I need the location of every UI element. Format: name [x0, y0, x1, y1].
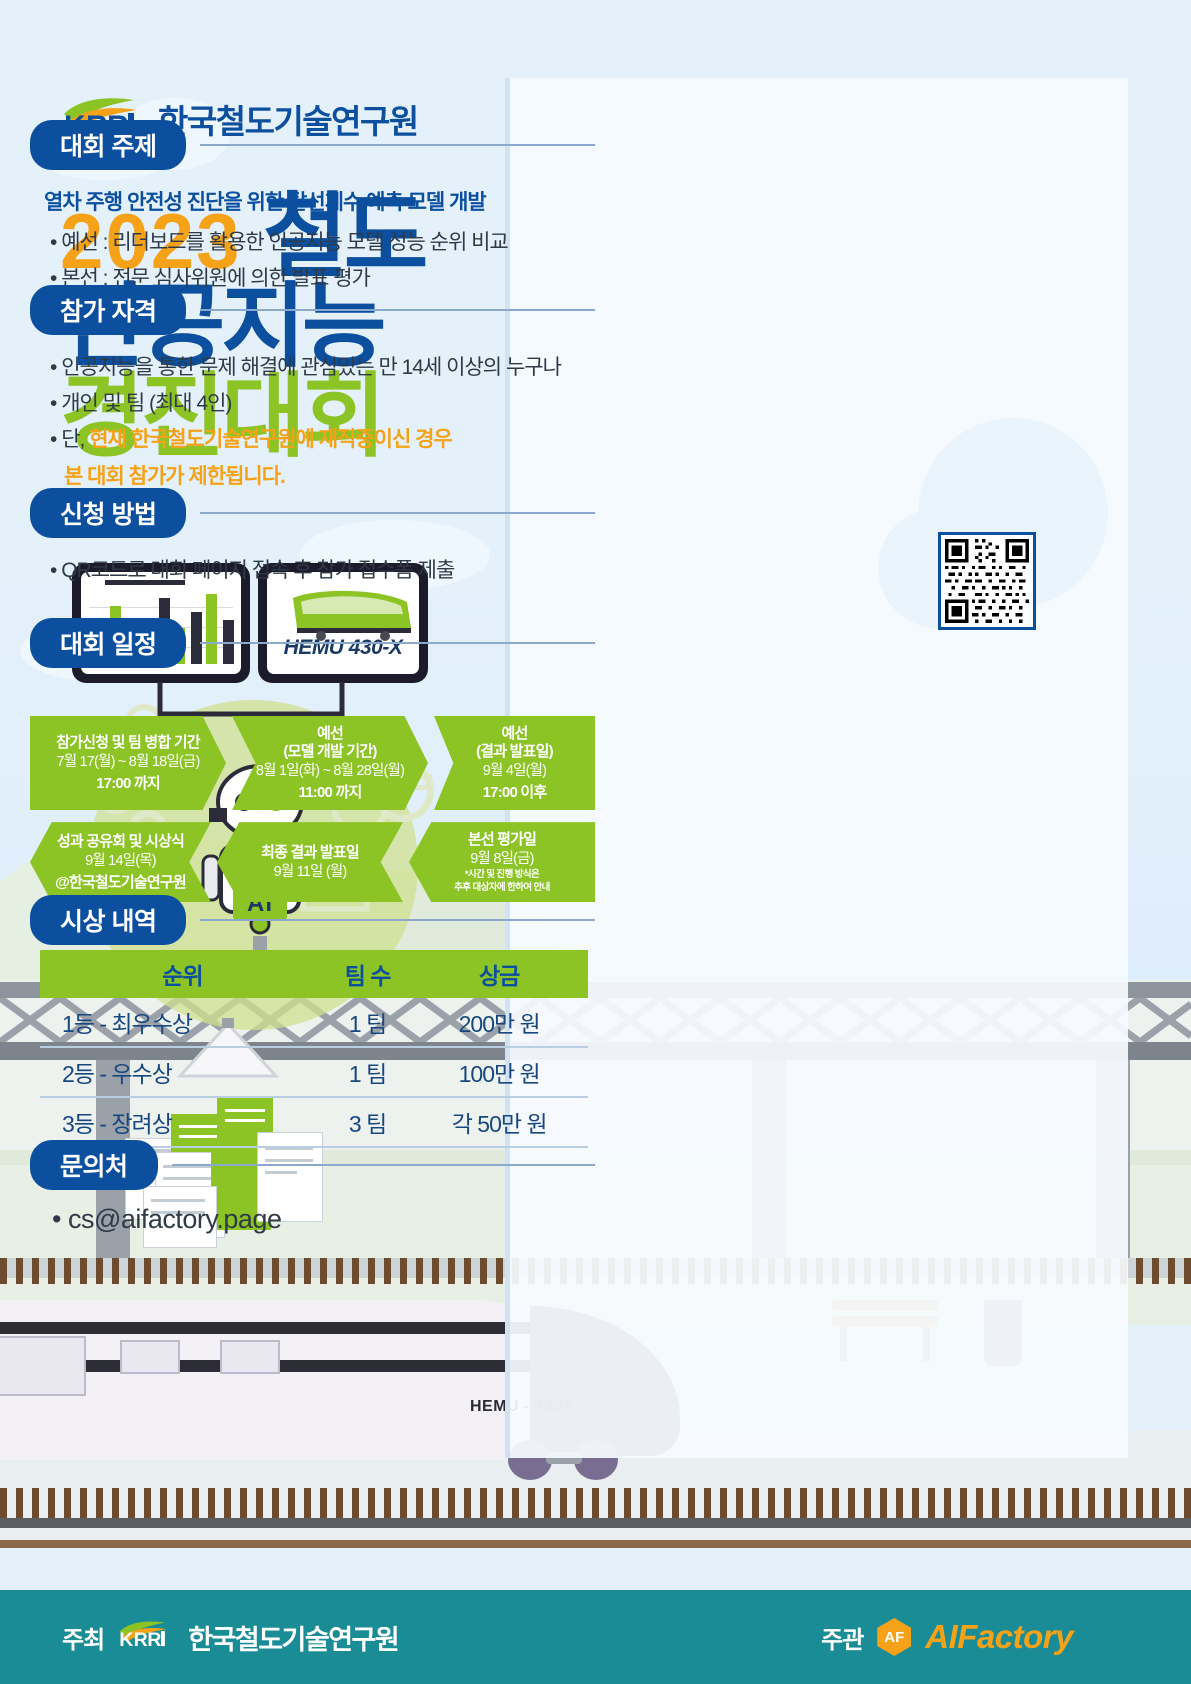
step-title: 참가신청 및 팀 병합 기간 [34, 734, 222, 752]
prize-table-header-row: 순위 팀 수 상금 [40, 950, 588, 998]
step-date: 9월 14일(목) [34, 852, 207, 870]
section-prizes-title: 시상 내역 [30, 895, 186, 945]
section-prizes: 시상 내역 [30, 895, 595, 945]
section-eligibility-title: 참가 자격 [30, 285, 186, 335]
section-prizes-header: 시상 내역 [30, 895, 595, 945]
section-topic: 대회 주제 열차 주행 안전성 진단을 위한 탈선계수 예측 모델 개발 • 예… [30, 120, 595, 300]
step-note-line1: *시간 및 진행 방식은 [413, 870, 591, 881]
step-subtitle: (모델 개발 기간) [236, 743, 424, 761]
header-rule [200, 642, 595, 644]
table-row: 2등 - 우수상 1 팀 100만 원 [40, 1047, 588, 1097]
schedule-step: 예선 (모델 개발 기간) 8월 1일(화) ~ 8월 28일(월) 11:00… [232, 716, 428, 810]
step-title: 본선 평가일 [413, 831, 591, 849]
section-apply-title: 신청 방법 [30, 488, 186, 538]
schedule-step: 본선 평가일 9월 8일(금) *시간 및 진행 방식은 추후 대상자에 한하여… [409, 822, 595, 902]
apply-bullet-text: QR코드로 대회 페이지 접속 후 참가 접수폼 제출 [61, 559, 454, 582]
svg-text:R: R [134, 1629, 148, 1651]
header-rule [200, 309, 595, 311]
step-note-line2: 추후 대상자에 한하여 안내 [413, 883, 591, 894]
eligibility-bullet-text: 인공지능을 통한 문제 해결에 관심있는 만 14세 이상의 누구나 [61, 356, 561, 379]
topic-bullet-text: 예선 : 리더보드를 활용한 인공지능 모델 성능 순위 비교 [61, 231, 508, 254]
step-time: 11:00 까지 [236, 781, 424, 802]
section-topic-header: 대회 주제 [30, 120, 595, 170]
schedule-row-2: 성과 공유회 및 시상식 9월 14일(목) @한국철도기술연구원 최종 결과 … [30, 822, 595, 902]
schedule-step: 성과 공유회 및 시상식 9월 14일(목) @한국철도기술연구원 [30, 822, 211, 902]
schedule-chevrons: 참가신청 및 팀 병합 기간 7월 17(월) ~ 8월 18일(금) 17:0… [30, 716, 595, 902]
poster-footer: 주최 K R R 한국철도기술연구원 주관 AF AIFactory [0, 1590, 1191, 1684]
prize-amount: 100만 원 [410, 1047, 588, 1097]
prize-rank: 2등 - 우수상 [40, 1047, 325, 1097]
train-window [120, 1340, 180, 1374]
step-date: 9월 8일(금) [413, 850, 591, 868]
aifactory-mark-icon: AF [877, 1618, 911, 1656]
header-rule [200, 919, 595, 921]
prize-col-amount: 상금 [410, 950, 588, 998]
footer-krri-mark-icon: K R R [118, 1619, 174, 1656]
step-title: 최종 결과 발표일 [221, 844, 399, 862]
topic-subtitle: 열차 주행 안전성 진단을 위한 탈선계수 예측 모델 개발 [44, 186, 595, 216]
rail-line [0, 1518, 1191, 1528]
qr-code-image [945, 539, 1029, 623]
svg-text:K: K [119, 1629, 133, 1651]
section-apply-header: 신청 방법 [30, 488, 595, 538]
rail-ties [0, 1488, 1191, 1518]
info-panel [505, 78, 1128, 1458]
apply-bullet: • QR코드로 대회 페이지 접속 후 참가 접수폼 제출 [50, 556, 595, 586]
train-stripe [0, 1322, 570, 1334]
prize-table: 순위 팀 수 상금 1등 - 최우수상 1 팀 200만 원 2등 - 우수상 … [40, 950, 588, 1148]
step-date: 9월 4일(월) [438, 762, 591, 780]
host-name: 한국철도기술연구원 [188, 1618, 398, 1657]
step-time: 17:00 이후 [438, 781, 591, 802]
restriction-line2: 본 대회 참가가 제한됩니다. [64, 460, 595, 490]
eligibility-bullet-text: 개인 및 팀 (최대 4인) [61, 392, 231, 415]
schedule-row-1: 참가신청 및 팀 병합 기간 7월 17(월) ~ 8월 18일(금) 17:0… [30, 716, 595, 810]
step-title: 예선 [236, 725, 424, 743]
host-label: 주최 [62, 1620, 104, 1655]
topic-bullet: • 예선 : 리더보드를 활용한 인공지능 모델 성능 순위 비교 [50, 228, 595, 258]
eligibility-bullet: • 인공지능을 통한 문제 해결에 관심있는 만 14세 이상의 누구나 [50, 353, 595, 383]
step-date: 7월 17(월) ~ 8월 18일(금) [34, 753, 222, 771]
prize-teams: 1 팀 [325, 998, 411, 1047]
step-date: 8월 1일(화) ~ 8월 28일(월) [236, 762, 424, 780]
train-window [0, 1336, 86, 1396]
rail-line [0, 1540, 1191, 1548]
header-rule [172, 1164, 595, 1166]
restriction-highlight: 현재 한국철도기술연구원에 재직중이신 경우 [89, 428, 452, 451]
section-contact: 문의처 • cs@aifactory.page [30, 1140, 595, 1235]
restriction-prefix: 단, [61, 428, 89, 451]
poster-canvas: K R R 한국철도기술연구원 2023 철도 인공지능 경진대회 [0, 0, 1191, 1684]
section-topic-title: 대회 주제 [30, 120, 186, 170]
schedule-step: 예선 (결과 발표일) 9월 4일(월) 17:00 이후 [434, 716, 595, 810]
section-eligibility: 참가 자격 • 인공지능을 통한 문제 해결에 관심있는 만 14세 이상의 누… [30, 285, 595, 490]
section-contact-header: 문의처 [30, 1140, 595, 1190]
svg-text:R: R [147, 1629, 161, 1651]
eligibility-bullet-restriction: • 단, 현재 한국철도기술연구원에 재직중이신 경우 [50, 425, 595, 455]
prize-teams: 1 팀 [325, 1047, 411, 1097]
prize-amount: 200만 원 [410, 998, 588, 1047]
section-eligibility-header: 참가 자격 [30, 285, 595, 335]
prize-col-teams: 팀 수 [325, 950, 411, 998]
section-contact-title: 문의처 [30, 1140, 158, 1190]
section-schedule: 대회 일정 [30, 618, 595, 668]
schedule-step: 참가신청 및 팀 병합 기간 7월 17(월) ~ 8월 18일(금) 17:0… [30, 716, 226, 810]
prize-col-rank: 순위 [40, 950, 325, 998]
step-title: 성과 공유회 및 시상식 [34, 833, 207, 851]
section-schedule-title: 대회 일정 [30, 618, 186, 668]
step-date: 9월 11일 (월) [221, 863, 399, 881]
organizer-label: 주관 [821, 1620, 863, 1655]
organizer-name: AIFactory [925, 1618, 1073, 1656]
schedule-step: 최종 결과 발표일 9월 11일 (월) [217, 822, 403, 902]
step-subtitle: (결과 발표일) [438, 743, 591, 761]
step-title: 예선 [438, 725, 591, 743]
header-rule [200, 144, 595, 146]
section-apply: 신청 방법 • QR코드로 대회 페이지 접속 후 참가 접수폼 제출 [30, 488, 595, 592]
table-row: 1등 - 최우수상 1 팀 200만 원 [40, 998, 588, 1047]
step-time: 17:00 까지 [34, 772, 222, 793]
section-schedule-header: 대회 일정 [30, 618, 595, 668]
prize-rank: 1등 - 최우수상 [40, 998, 325, 1047]
contact-email[interactable]: • cs@aifactory.page [52, 1204, 595, 1235]
eligibility-bullet: • 개인 및 팀 (최대 4인) [50, 389, 595, 419]
header-rule [200, 512, 595, 514]
qr-code-icon[interactable] [938, 532, 1036, 630]
step-location: @한국철도기술연구원 [34, 871, 207, 892]
train-window [220, 1340, 280, 1374]
